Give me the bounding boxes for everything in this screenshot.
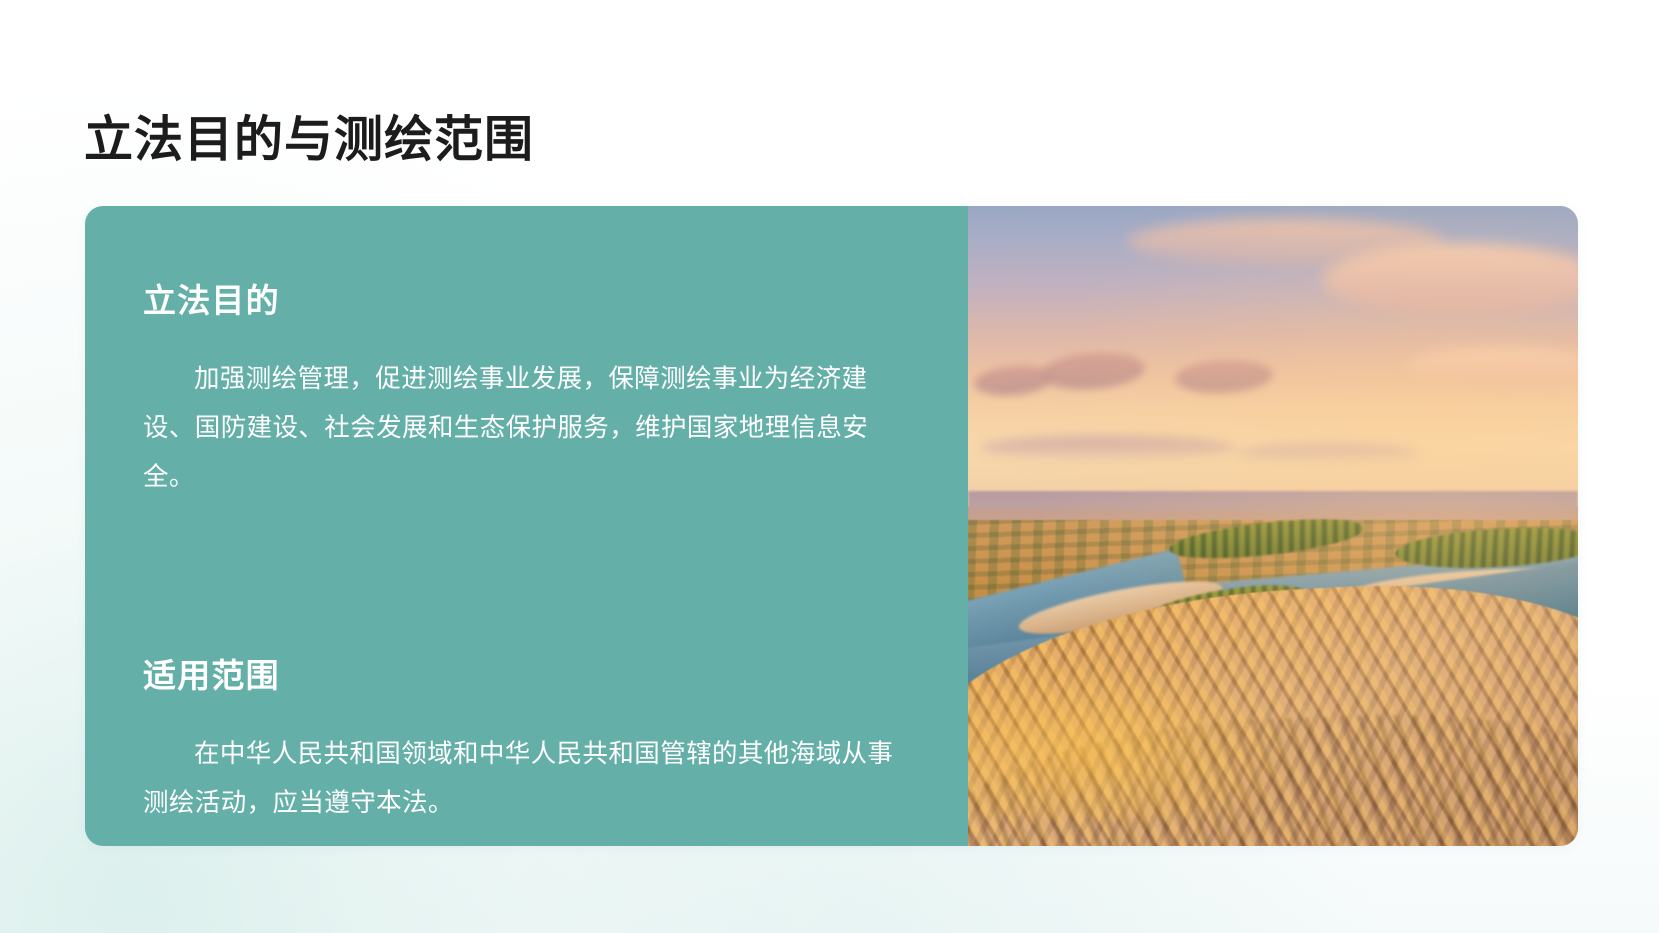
page-title: 立法目的与测绘范围 (84, 111, 534, 170)
card-text-panel: 立法目的 加强测绘管理，促进测绘事业发展，保障测绘事业为经济建设、国防建设、社会… (85, 206, 968, 846)
section-legislative-purpose: 立法目的 加强测绘管理，促进测绘事业发展，保障测绘事业为经济建设、国防建设、社会… (143, 280, 908, 502)
section-body: 在中华人民共和国领域和中华人民共和国管辖的其他海域从事测绘活动，应当遵守本法。 (143, 730, 908, 828)
section-heading: 适用范围 (143, 655, 908, 696)
content-card: 立法目的 加强测绘管理，促进测绘事业发展，保障测绘事业为经济建设、国防建设、社会… (85, 206, 1578, 846)
slide-canvas: 立法目的与测绘范围 立法目的 加强测绘管理，促进测绘事业发展，保障测绘事业为经济… (0, 0, 1659, 933)
cliff-sunlight-glow (968, 654, 1310, 820)
cloud-highlight (1322, 244, 1578, 314)
section-body: 加强测绘管理，促进测绘事业发展，保障测绘事业为经济建设、国防建设、社会发展和生态… (143, 355, 908, 502)
section-scope-of-application: 适用范围 在中华人民共和国领域和中华人民共和国管辖的其他海域从事测绘活动，应当遵… (143, 655, 908, 828)
cloud-low (1236, 443, 1419, 462)
photo-composition (968, 206, 1578, 846)
section-heading: 立法目的 (143, 280, 908, 321)
landscape-photo (968, 206, 1578, 846)
